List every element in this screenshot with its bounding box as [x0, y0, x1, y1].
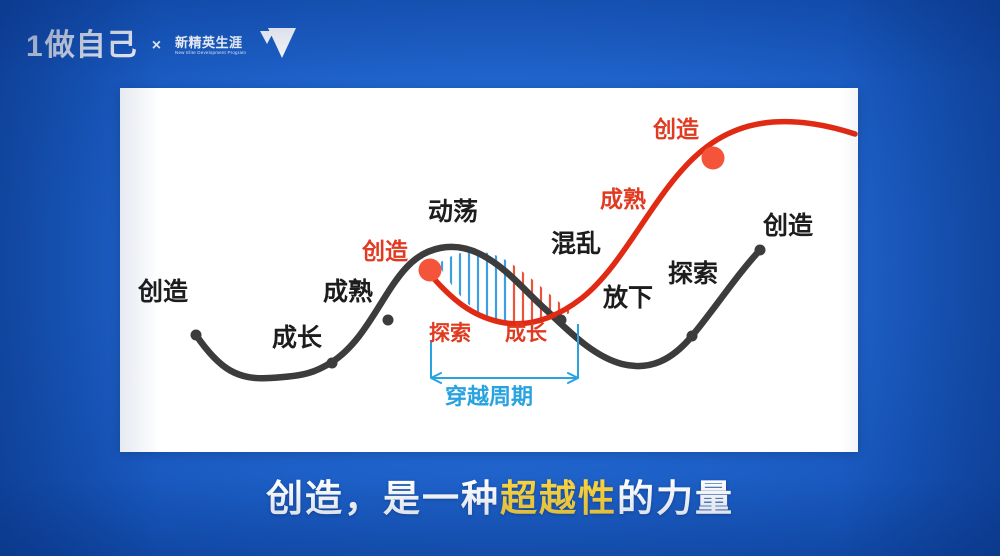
partner-name-cn: 新精英生涯 [175, 36, 243, 49]
slide-canvas: 1 做自己 × 新精英生涯 New Elite Development Prog… [0, 0, 1000, 556]
label-explore-old: 探索 [668, 262, 718, 287]
label-maturity-new: 成熟 [600, 188, 646, 211]
logo-separator: × [150, 37, 163, 55]
partner-logo: 新精英生涯 New Elite Development Program [175, 26, 297, 66]
label-create-end: 创造 [763, 214, 813, 239]
brand-logo-mark: 1 做自己 [26, 31, 138, 61]
partner-chevron-icon [251, 26, 297, 66]
label-create-start: 创造 [138, 280, 188, 305]
curve-end-cap [755, 245, 766, 256]
label-create-new-left: 创造 [362, 240, 408, 263]
creation-marker-left[interactable] [419, 259, 442, 282]
partner-text-block: 新精英生涯 New Elite Development Program [175, 36, 246, 56]
label-explore-new: 探索 [429, 323, 471, 344]
brand-logo-bar: 1 做自己 × 新精英生涯 New Elite Development Prog… [26, 22, 297, 70]
slide-caption: 创造，是一种超越性的力量 [0, 468, 1000, 522]
logo-numeral: 1 [26, 32, 42, 62]
label-maturity-old: 成熟 [323, 280, 373, 305]
creation-marker-right[interactable] [702, 147, 725, 170]
label-turbulence: 动荡 [428, 200, 478, 225]
label-create-new-right: 创造 [653, 118, 699, 141]
logo-name: 做自己 [45, 31, 138, 61]
caption-before: 创造，是一种 [266, 478, 500, 519]
caption-after: 的力量 [617, 478, 734, 519]
label-growth-old: 成长 [272, 326, 322, 351]
curve-node-dot [383, 315, 394, 326]
curve-node-dot [556, 315, 567, 326]
label-chaos: 混乱 [551, 232, 601, 257]
chart-panel: 创造 成长 成熟 动荡 混乱 放下 探索 创造 创造 成熟 创造 探索 成长 穿… [120, 88, 858, 452]
curve-node-dot [327, 358, 338, 369]
curve-node-dot [687, 331, 698, 342]
curve-end-cap [191, 330, 202, 341]
partner-name-en: New Elite Development Program [175, 51, 246, 56]
label-growth-new: 成长 [505, 323, 547, 344]
label-cycle-span: 穿越周期 [445, 386, 533, 408]
label-let-go: 放下 [603, 286, 653, 311]
caption-highlight: 超越性 [500, 478, 617, 519]
